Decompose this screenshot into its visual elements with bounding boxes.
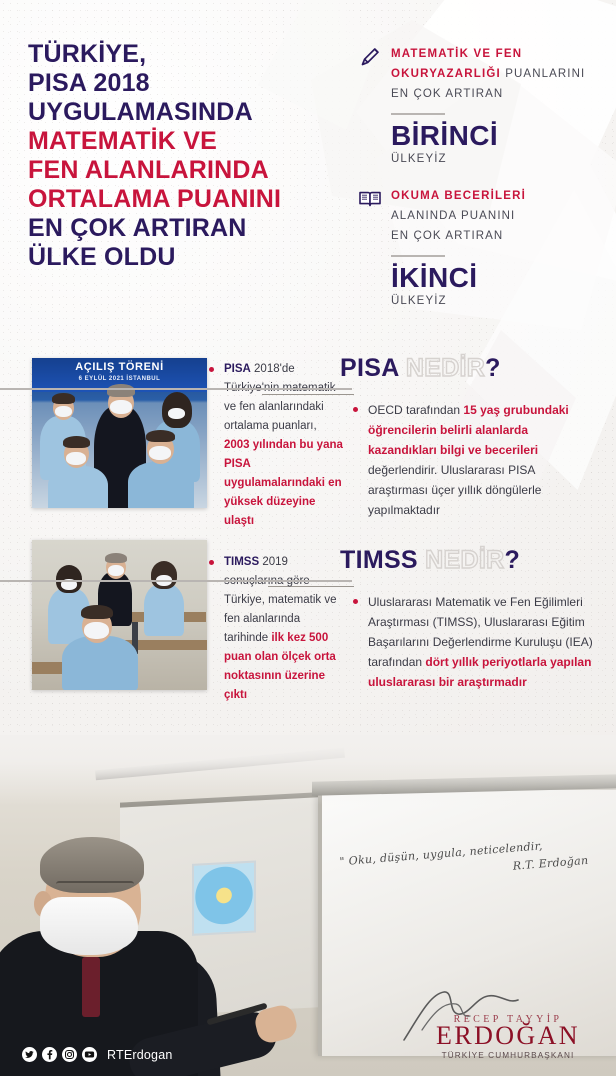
instagram-icon[interactable] xyxy=(62,1047,77,1062)
section-1-part-0: OECD tarafından xyxy=(368,403,463,417)
signature-title: TÜRKİYE CUMHURBAŞKANI xyxy=(418,1051,598,1060)
whiteboard-handwriting: " Oku, düşün, uygula, neticelendir, R.T.… xyxy=(339,832,603,890)
stat-a-head: MATEMATİK VE FEN OKURYAZARLIĞI PUANLARIN… xyxy=(358,44,608,104)
section-pisa-nedir: PISA NEDİR? OECD tarafından 15 yaş grubu… xyxy=(340,354,610,520)
face-mask xyxy=(40,897,138,955)
bullet-timss-result: TIMSS 2019 sonuçlarına göre Türkiye, mat… xyxy=(224,553,344,705)
stat-block-math-science: MATEMATİK VE FEN OKURYAZARLIĞI PUANLARIN… xyxy=(358,44,608,167)
section-1-title: PISA NEDİR? xyxy=(340,354,610,382)
section-2-divider xyxy=(0,580,352,582)
stat-b-line2-rest: ALANINDA PUANINI xyxy=(391,206,526,226)
page-title: TÜRKİYE, PISA 2018 UYGULAMASINDA MATEMAT… xyxy=(28,40,348,272)
headline-line-4: MATEMATİK VE xyxy=(28,127,348,156)
stat-b-rank-sub: ÜLKEYİZ xyxy=(391,293,608,309)
stat-a-line2-bold: OKURYAZARLIĞI xyxy=(391,68,501,80)
photo-1-banner-sub: 6 EYLÜL 2021 İSTANBUL xyxy=(32,376,207,382)
facebook-icon[interactable] xyxy=(42,1047,57,1062)
section-1-title-question: ? xyxy=(485,354,501,382)
bullet-dot xyxy=(353,599,358,604)
section-1-body: OECD tarafından 15 yaş grubundaki öğrenc… xyxy=(368,400,596,520)
section-1-title-outline: NEDİR xyxy=(406,354,485,382)
social-links[interactable]: RTErdogan xyxy=(22,1047,173,1062)
open-book-icon xyxy=(358,187,382,211)
section-2-title-outline: NEDİR xyxy=(425,546,504,574)
bullet-2-part-0: TIMSS xyxy=(224,556,259,568)
section-2-body: Uluslararası Matematik ve Fen Eğilimleri… xyxy=(368,592,596,692)
bullet-1-part-2: 2003 yılından bu yana PISA uygulamaların… xyxy=(224,439,343,527)
pencil-icon xyxy=(358,45,382,69)
stat-b-line1: OKUMA BECERİLERİ xyxy=(391,190,526,202)
president-figure xyxy=(10,835,310,1076)
headline-line-6: ORTALAMA PUANINI xyxy=(28,185,348,214)
section-2-title-solid: TIMSS xyxy=(340,546,418,574)
section-timss-nedir: TIMSS NEDİR? Uluslararası Matematik ve F… xyxy=(340,546,610,692)
headline-line-5: FEN ALANLARINDA xyxy=(28,156,348,185)
stat-a-line3: EN ÇOK ARTIRAN xyxy=(391,84,585,104)
stat-a-line2-rest: PUANLARINI xyxy=(501,68,585,80)
photo-1-banner-title: AÇILIŞ TÖRENİ xyxy=(32,361,207,373)
headline-line-8: ÜLKE OLDU xyxy=(28,243,348,272)
bullet-pisa-result: PISA 2018'de Türkiye'nin matematik ve fe… xyxy=(224,360,344,531)
bullet-2-part-1: 2019 sonuçlarına göre Türkiye, matematik… xyxy=(224,556,336,644)
section-2-title-question: ? xyxy=(504,546,520,574)
section-1-title-solid: PISA xyxy=(340,354,399,382)
bullet-dot xyxy=(209,367,214,372)
stat-block-reading: OKUMA BECERİLERİ ALANINDA PUANINI EN ÇOK… xyxy=(358,186,608,309)
section-2-title: TIMSS NEDİR? xyxy=(340,546,610,574)
section-1-part-2: değerlendirir. Uluslararası PISA araştır… xyxy=(368,463,541,517)
stat-a-lines: MATEMATİK VE FEN OKURYAZARLIĞI PUANLARIN… xyxy=(391,44,585,104)
stat-b-line3: EN ÇOK ARTIRAN xyxy=(391,226,526,246)
bullet-1-part-0: PISA xyxy=(224,363,251,375)
stat-a-rank: BİRİNCİ xyxy=(391,121,608,151)
presidential-signature: RECEP TAYYİP ERDOĞAN TÜRKİYE CUMHURBAŞKA… xyxy=(418,1014,598,1060)
headline-line-3: UYGULAMASINDA xyxy=(28,98,348,127)
bullet-dot xyxy=(209,560,214,565)
headline-line-7: EN ÇOK ARTIRAN xyxy=(28,214,348,243)
acilis-toreni-photo: AÇILIŞ TÖRENİ 6 EYLÜL 2021 İSTANBUL xyxy=(32,358,207,508)
headline-line-2: PISA 2018 xyxy=(28,69,348,98)
infographic-page: TÜRKİYE, PISA 2018 UYGULAMASINDA MATEMAT… xyxy=(0,0,616,1076)
section-1-divider xyxy=(0,388,352,390)
stat-b-head: OKUMA BECERİLERİ ALANINDA PUANINI EN ÇOK… xyxy=(358,186,608,246)
headline-line-1: TÜRKİYE, xyxy=(28,40,348,69)
stat-b-lines: OKUMA BECERİLERİ ALANINDA PUANINI EN ÇOK… xyxy=(391,186,526,246)
bullet-dot xyxy=(353,407,358,412)
stat-b-rank: İKİNCİ xyxy=(391,263,608,293)
stat-a-divider xyxy=(391,113,445,115)
stat-b-divider xyxy=(391,255,445,257)
social-handle[interactable]: RTErdogan xyxy=(107,1048,173,1062)
stat-a-line1: MATEMATİK VE FEN xyxy=(391,48,522,60)
youtube-icon[interactable] xyxy=(82,1047,97,1062)
stat-a-rank-sub: ÜLKEYİZ xyxy=(391,151,608,167)
handwritten-signature-mark xyxy=(400,984,520,1046)
sinif-ziyareti-photo xyxy=(32,540,207,690)
twitter-icon[interactable] xyxy=(22,1047,37,1062)
